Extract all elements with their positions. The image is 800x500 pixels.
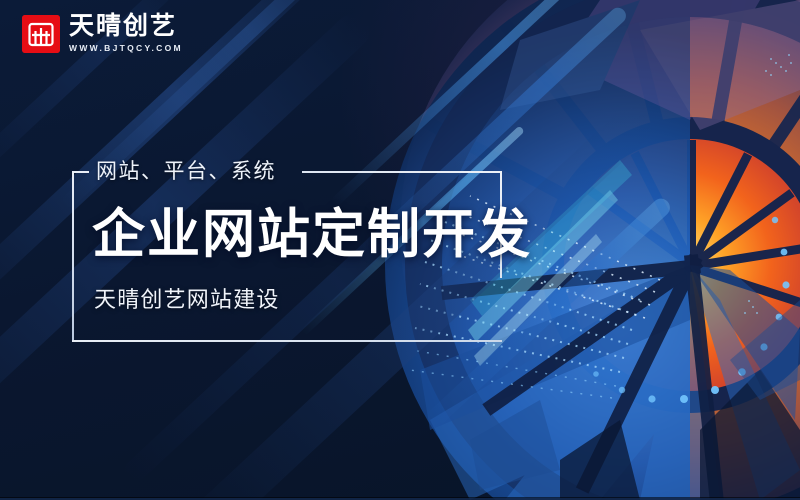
website-url: WWW.BJTQCY.COM (69, 42, 183, 55)
bottom-divider (0, 497, 800, 498)
kicker-text: 网站、平台、系统 (96, 161, 276, 182)
company-name: 天晴创艺 (69, 13, 183, 40)
frame-top-left-stub (72, 171, 89, 173)
frame-left-edge (72, 171, 74, 342)
logo-text-block: 天晴创艺 WWW.BJTQCY.COM (69, 13, 183, 54)
brand-logo[interactable]: 天晴创艺 WWW.BJTQCY.COM (22, 13, 183, 54)
tqcy-monogram-icon (22, 15, 60, 53)
frame-top-right-rule (302, 171, 502, 173)
promo-banner: 天晴创艺 WWW.BJTQCY.COM 网站、平台、系统 企业网站定制开发 天晴… (0, 0, 800, 500)
page-title: 企业网站定制开发 (92, 205, 532, 264)
subtitle-text: 天晴创艺网站建设 (94, 289, 280, 311)
frame-bottom-edge (72, 340, 502, 342)
